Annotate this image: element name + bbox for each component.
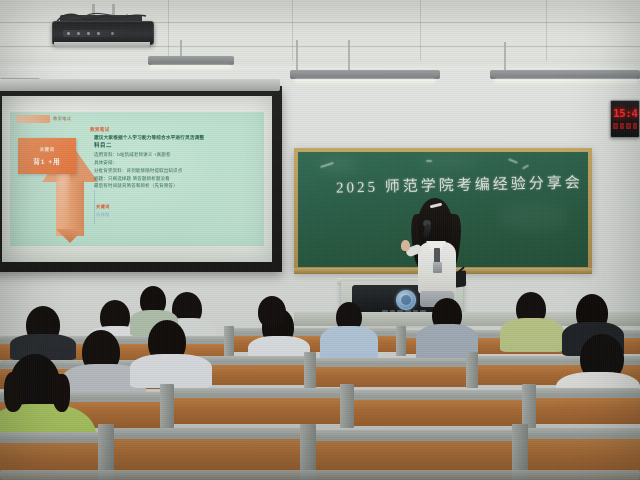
slide-header: 教资笔试	[53, 116, 71, 122]
slide-keyword-side-value: 选择题	[96, 212, 110, 218]
bench-back	[532, 395, 640, 424]
classroom-photo: 教资笔试 教资笔试 关键词 背1 +用 关键词	[0, 0, 640, 480]
bench-back	[172, 395, 348, 424]
ceiling-soffit	[0, 60, 640, 70]
bench-post	[522, 384, 536, 428]
led-clock: 15:4	[610, 100, 640, 138]
bench-back	[314, 364, 474, 387]
slide-keyword-side: 关键词 选择题	[96, 204, 110, 218]
slide-keyword-value: 背1 +用	[33, 156, 61, 166]
clock-indicator-row	[613, 123, 637, 129]
bench-post	[466, 352, 478, 388]
id-badge	[433, 262, 442, 273]
bench-back	[350, 397, 530, 426]
bench-post	[224, 326, 234, 356]
projection-screen: 教资笔试 教资笔试 关键词 背1 +用 关键词	[0, 86, 282, 272]
slide-subheader: 教资笔试	[90, 127, 110, 133]
clock-time: 15:4	[613, 107, 637, 120]
presenter	[400, 198, 472, 318]
slide-line: 建议大家根据个人学习能力等综合水平进行灵活调整	[94, 134, 260, 142]
slide-keyword-label: 关键词	[40, 147, 55, 153]
screen-surface: 教资笔试 教资笔试 关键词 背1 +用 关键词	[2, 96, 272, 262]
slide-line: 分批背完资料：背到能够随时提取出知识点	[94, 167, 260, 175]
bench-post	[396, 326, 406, 356]
slide-tab-row: 教资笔试	[16, 115, 71, 123]
slide-line: 刷题：只刷选择题 简答题辨析题没看	[94, 175, 260, 183]
slide-line: 选用资料：b站凯威老师讲义 +真题卷	[94, 151, 260, 159]
slide-divider	[94, 190, 95, 224]
slide-body-text: 建议大家根据个人学习能力等综合水平进行灵活调整 科目二 选用资料：b站凯威老师讲…	[94, 134, 260, 190]
presentation-slide: 教资笔试 教资笔试 关键词 背1 +用 关键词	[10, 112, 264, 246]
bench-rail-front	[0, 470, 640, 480]
blackboard-headline: 2025 师范学院考编经验分享会	[336, 171, 583, 197]
slide-line: 科目二	[94, 142, 260, 151]
slide-line: 具体安排：	[94, 159, 260, 167]
ceiling-projector	[46, 4, 156, 52]
screen-roller-case	[0, 79, 280, 91]
slide-keyword-side-label: 关键词	[96, 204, 110, 210]
bench-post	[304, 352, 316, 388]
bench-post	[340, 384, 354, 428]
slide-keyword-box: 关键词 背1 +用	[18, 138, 76, 174]
presenter-hand	[401, 240, 410, 251]
slide-line: 最后有时间就背简答和辨析（先背简答）	[94, 182, 260, 190]
bench-post	[160, 384, 174, 428]
